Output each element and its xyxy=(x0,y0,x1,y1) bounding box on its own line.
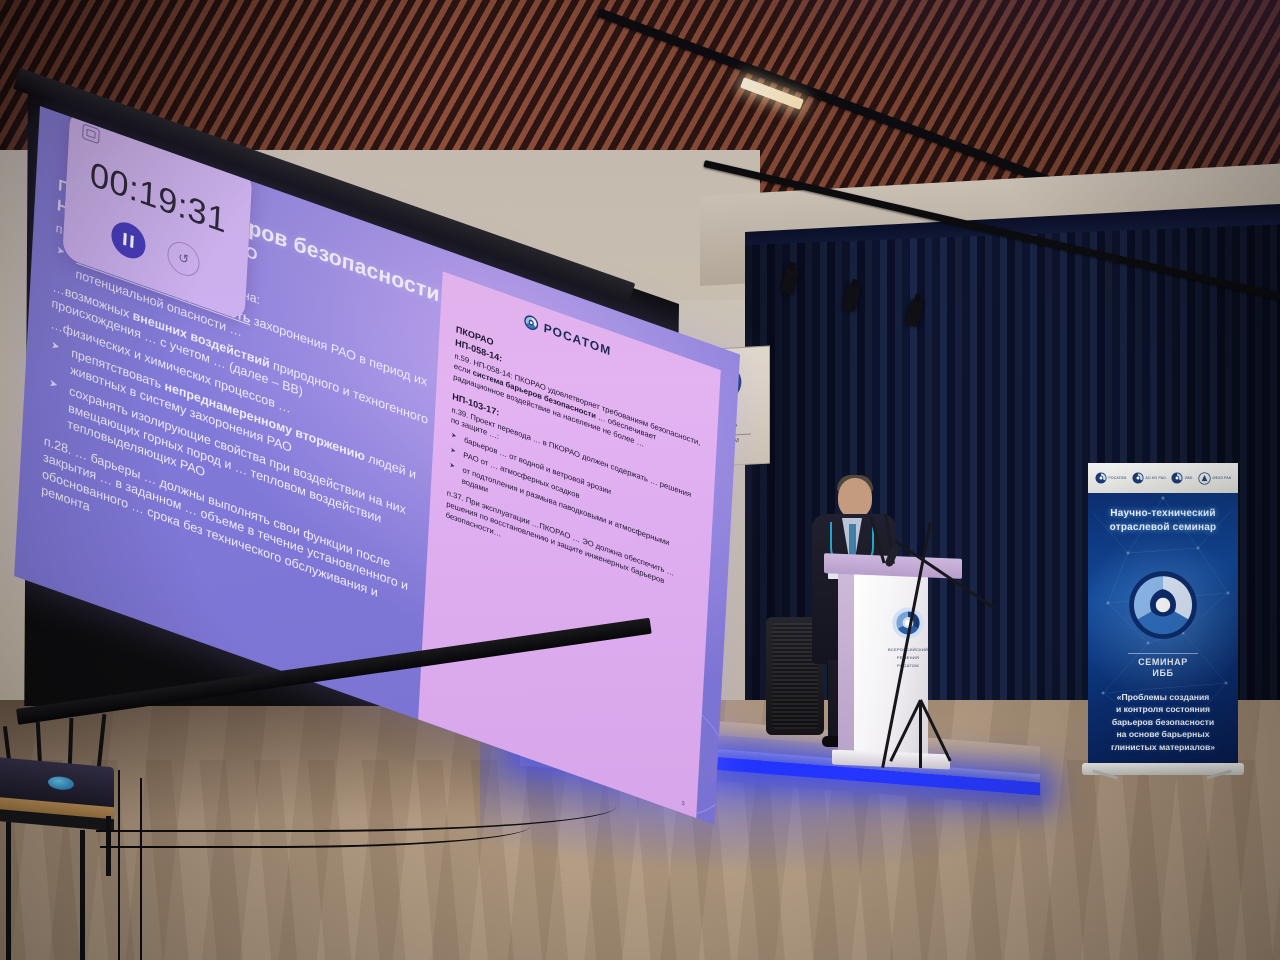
banner-logo-label: ИББ xyxy=(1185,476,1193,480)
screen-share-icon xyxy=(82,123,100,144)
banner-subtitle-line4: на основе барьерных xyxy=(1096,728,1230,740)
banner-seminar-label: СЕМИНАР ИББ xyxy=(1088,657,1238,680)
banner-headline: Научно-технический отраслевой семинар xyxy=(1088,507,1238,534)
hanging-cable xyxy=(118,770,130,960)
podium-caption-2: РЕШЕНИЯ xyxy=(888,655,928,661)
banner-logo-item: ИФХЭ РАН xyxy=(1198,472,1232,485)
pause-button[interactable] xyxy=(111,217,147,263)
banner-divider xyxy=(1128,653,1198,654)
banner-logo-item: АО НО РАО xyxy=(1132,472,1166,484)
banner-rosatom-emblem-icon xyxy=(1127,569,1199,646)
banner-logo-label: АО НО РАО xyxy=(1146,476,1166,480)
banner-seminar-line1: СЕМИНАР xyxy=(1088,657,1238,668)
podium-caption-3: РОСАТОМ xyxy=(888,663,928,669)
presenter-head xyxy=(838,478,872,518)
banner-subtitle: «Проблемы создания и контроля состояния … xyxy=(1096,691,1230,753)
tripod-stand xyxy=(886,700,956,770)
chair-leg xyxy=(80,830,85,960)
rosatom-logo-icon xyxy=(523,313,539,333)
projection-screen: оздания рных барьеров безопасности ППЗРО… xyxy=(14,46,704,726)
rollup-banner: РОСАТОМ АО НО РАО ИББ ИФХЭ РАН xyxy=(1086,463,1240,783)
banner-headline-line2: отраслевой семинар xyxy=(1088,521,1238,535)
banner-seminar-line2: ИББ xyxy=(1088,668,1238,679)
slide-right-body: ПКОРАО НП-058-14: п.59. НП-058-14: ПКОРА… xyxy=(445,323,704,609)
projector-lens-icon xyxy=(48,776,74,791)
banner-subtitle-line2: и контроля состояния xyxy=(1096,703,1230,715)
banner-logo-strip: РОСАТОМ АО НО РАО ИББ ИФХЭ РАН xyxy=(1088,463,1238,493)
podium-caption-1: ВСЕРОССИЙСКИЙ xyxy=(888,647,928,653)
chair-leg xyxy=(6,822,11,960)
banner-logo-item: РОСАТОМ xyxy=(1095,472,1127,484)
hanging-cable xyxy=(140,778,152,960)
slide-page-number: 3 xyxy=(681,801,685,808)
banner-subtitle-line1: «Проблемы создания xyxy=(1096,691,1230,703)
banner-subtitle-line3: барьеров безопасности xyxy=(1096,716,1230,728)
banner-headline-line1: Научно-технический xyxy=(1088,507,1238,521)
reset-button[interactable]: ↺ xyxy=(167,237,201,280)
photo-scene: ОЦЭ УГР РОСАТОМ xyxy=(0,0,1280,960)
banner-logo-item: ИББ xyxy=(1171,472,1193,484)
banner-logo-label: РОСАТОМ xyxy=(1109,476,1127,480)
banner-logo-label: ИФХЭ РАН xyxy=(1213,476,1232,480)
banner-subtitle-line5: глинистых материалов» xyxy=(1096,741,1230,753)
banner-artwork: Научно-технический отраслевой семинар СЕ… xyxy=(1088,493,1238,765)
